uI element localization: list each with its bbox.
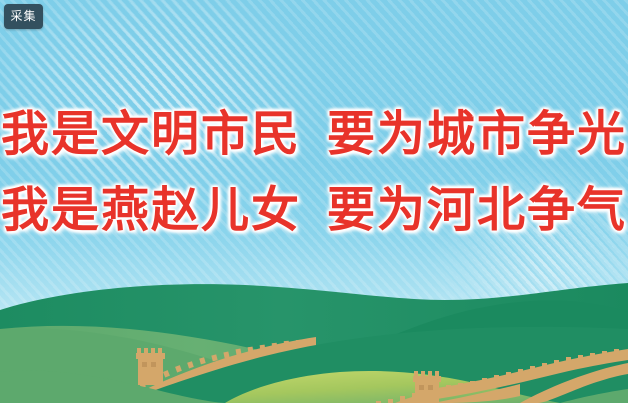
slogan-line2-left: 我是燕赵儿女 <box>1 182 301 238</box>
slogan-line2-right: 要为河北争气 <box>327 182 627 238</box>
slogan-line-1: 我是文明市民要为城市争光 <box>0 96 628 172</box>
slogan-line-2: 我是燕赵儿女要为河北争气 <box>0 172 628 248</box>
slogan-block: 我是文明市民要为城市争光 我是燕赵儿女要为河北争气 <box>0 96 628 248</box>
slogan-line1-right: 要为城市争光 <box>327 106 627 162</box>
capture-button[interactable]: 采集 <box>4 4 43 29</box>
banner-canvas: 我是文明市民要为城市争光 我是燕赵儿女要为河北争气 采集 <box>0 0 628 403</box>
slogan-line1-left: 我是文明市民 <box>1 106 301 162</box>
